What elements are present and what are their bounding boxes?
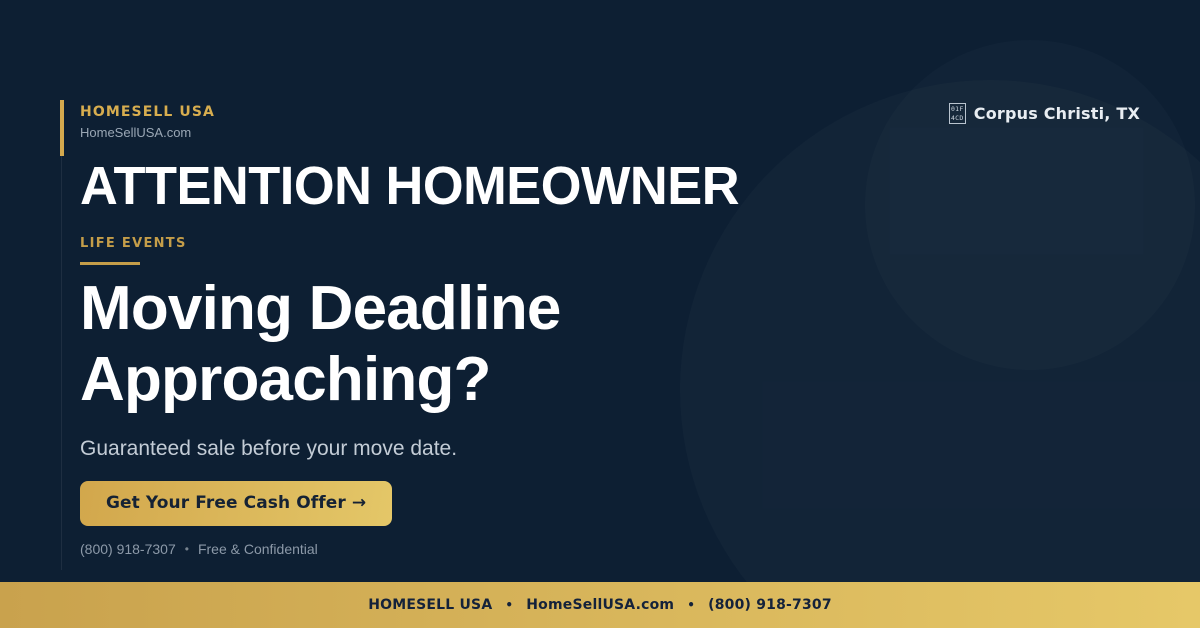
location-label: Corpus Christi, TX: [974, 104, 1140, 123]
location-pin-icon-codepoint-top: 01F: [950, 105, 965, 114]
eyebrow-underline: [80, 262, 140, 265]
location-pin-icon: 01F 4CD: [949, 103, 966, 124]
fineprint-block: (800) 918-7307 • Free & Confidential: [80, 541, 318, 557]
eyebrow-block: LIFE EVENTS: [80, 237, 187, 265]
subheadline: Guaranteed sale before your move date.: [80, 436, 457, 461]
main-headline: Moving Deadline Approaching?: [80, 273, 561, 416]
footer-separator-1: •: [505, 598, 513, 612]
location-pin-icon-codepoint-bottom: 4CD: [950, 114, 965, 123]
footer-bar: HOMESELL USA • HomeSellUSA.com • (800) 9…: [0, 582, 1200, 628]
footer-website[interactable]: HomeSellUSA.com: [526, 597, 674, 613]
fineprint-separator: •: [185, 542, 189, 556]
fineprint-phone[interactable]: (800) 918-7307: [80, 541, 176, 557]
fineprint-note: Free & Confidential: [198, 541, 318, 557]
location-badge: 01F 4CD Corpus Christi, TX: [80, 103, 1200, 124]
main-headline-line-1: Moving Deadline: [80, 273, 561, 344]
brand-website: HomeSellUSA.com: [80, 126, 215, 140]
footer-phone[interactable]: (800) 918-7307: [708, 597, 832, 613]
left-rail-line: [61, 100, 62, 570]
eyebrow-label: LIFE EVENTS: [80, 237, 187, 251]
main-headline-line-2: Approaching?: [80, 344, 561, 415]
hero-content: HOMESELL USA HomeSellUSA.com 01F 4CD Cor…: [80, 0, 1120, 582]
footer-separator-2: •: [687, 598, 695, 612]
get-free-cash-offer-button[interactable]: Get Your Free Cash Offer →: [80, 481, 392, 526]
attention-headline: ATTENTION HOMEOWNER: [80, 158, 739, 215]
left-accent-bar: [60, 100, 64, 156]
footer-brand: HOMESELL USA: [368, 597, 492, 613]
